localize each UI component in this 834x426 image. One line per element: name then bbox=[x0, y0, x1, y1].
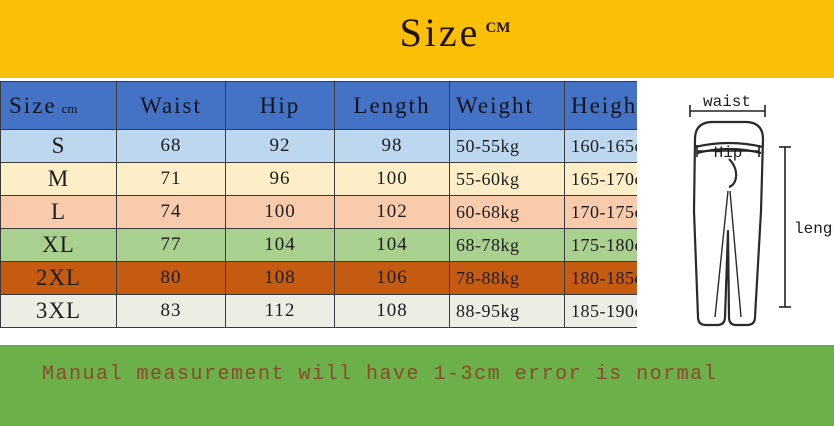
cell-waist: 68 bbox=[117, 130, 226, 163]
measurement-note: Manual measurement will have 1-3cm error… bbox=[42, 363, 717, 386]
cell-waist: 71 bbox=[117, 163, 226, 196]
pants-diagram-svg: waist Hip leng bbox=[637, 81, 834, 345]
size-table-head: Sizecm Waist Hip Length Weight Height bbox=[1, 82, 682, 130]
cell-hip: 108 bbox=[226, 262, 335, 295]
column-header-weight: Weight bbox=[450, 82, 565, 130]
cell-length: 100 bbox=[335, 163, 450, 196]
cell-length: 108 bbox=[335, 295, 450, 328]
cell-hip: 100 bbox=[226, 196, 335, 229]
cell-size: S bbox=[1, 130, 117, 163]
cell-weight: 50-55kg bbox=[450, 130, 565, 163]
column-header-size-label: Size bbox=[9, 93, 57, 118]
cell-waist: 83 bbox=[117, 295, 226, 328]
table-row: 2XL8010810678-88kg180-185cm bbox=[1, 262, 682, 295]
cell-waist: 80 bbox=[117, 262, 226, 295]
title-banner: SizeCM bbox=[0, 0, 834, 78]
table-row: 3XL8311210888-95kg185-190cm bbox=[1, 295, 682, 328]
cell-hip: 92 bbox=[226, 130, 335, 163]
column-header-size-unit: cm bbox=[62, 101, 78, 116]
cell-weight: 60-68kg bbox=[450, 196, 565, 229]
table-row: L7410010260-68kg170-175cm bbox=[1, 196, 682, 229]
cell-waist: 74 bbox=[117, 196, 226, 229]
length-dimension-icon bbox=[779, 147, 791, 307]
hip-label: Hip bbox=[714, 144, 743, 162]
cell-size: M bbox=[1, 163, 117, 196]
size-chart-page: SizeCM Sizecm Waist Hip Length Weight He… bbox=[0, 0, 834, 426]
column-header-waist: Waist bbox=[117, 82, 226, 130]
cell-weight: 55-60kg bbox=[450, 163, 565, 196]
cell-length: 102 bbox=[335, 196, 450, 229]
page-title: SizeCM bbox=[400, 13, 511, 53]
column-header-size: Sizecm bbox=[1, 82, 117, 130]
cell-length: 104 bbox=[335, 229, 450, 262]
cell-size: L bbox=[1, 196, 117, 229]
cell-hip: 112 bbox=[226, 295, 335, 328]
table-row: M719610055-60kg165-170cm bbox=[1, 163, 682, 196]
cell-weight: 78-88kg bbox=[450, 262, 565, 295]
page-title-text: Size bbox=[400, 10, 481, 55]
cell-waist: 77 bbox=[117, 229, 226, 262]
cell-weight: 68-78kg bbox=[450, 229, 565, 262]
table-row: S68929850-55kg160-165cm bbox=[1, 130, 682, 163]
cell-hip: 104 bbox=[226, 229, 335, 262]
size-table-body: S68929850-55kg160-165cmM719610055-60kg16… bbox=[1, 130, 682, 328]
cell-hip: 96 bbox=[226, 163, 335, 196]
length-label: length bbox=[794, 220, 834, 238]
pants-diagram-panel: waist Hip leng bbox=[637, 81, 834, 345]
cell-length: 106 bbox=[335, 262, 450, 295]
table-header-row: Sizecm Waist Hip Length Weight Height bbox=[1, 82, 682, 130]
cell-size: 3XL bbox=[1, 295, 117, 328]
waist-label: waist bbox=[703, 93, 751, 111]
page-title-unit: CM bbox=[485, 20, 510, 36]
column-header-length: Length bbox=[335, 82, 450, 130]
table-row: XL7710410468-78kg175-180cm bbox=[1, 229, 682, 262]
size-table: Sizecm Waist Hip Length Weight Height S6… bbox=[0, 81, 682, 328]
cell-size: 2XL bbox=[1, 262, 117, 295]
column-header-hip: Hip bbox=[226, 82, 335, 130]
cell-size: XL bbox=[1, 229, 117, 262]
cell-length: 98 bbox=[335, 130, 450, 163]
cell-weight: 88-95kg bbox=[450, 295, 565, 328]
note-banner: Manual measurement will have 1-3cm error… bbox=[0, 345, 834, 426]
